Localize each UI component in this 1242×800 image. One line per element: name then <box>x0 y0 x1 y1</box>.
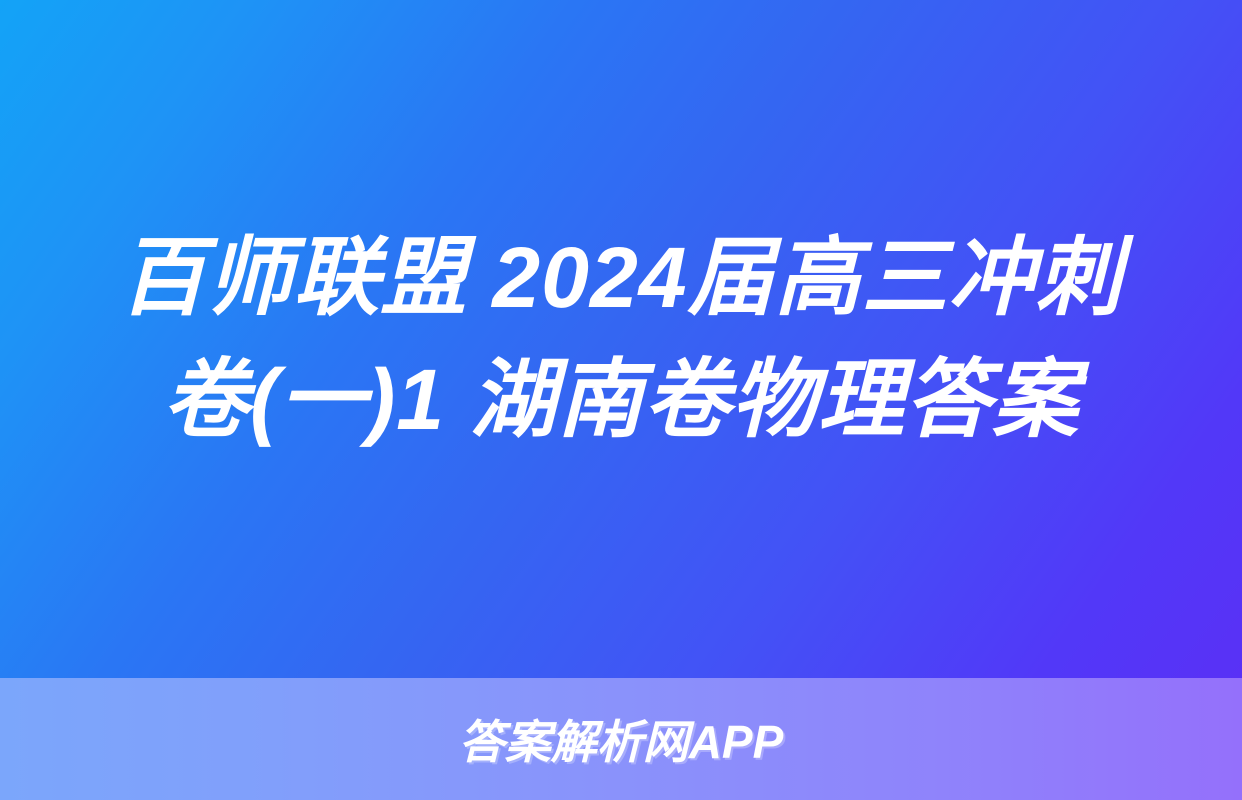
app-watermark: 答案解析网APP <box>459 719 784 765</box>
title-line-3: 案 <box>992 352 1079 448</box>
hero-section: 百师联盟 2024届高三冲刺卷(一)1 湖南卷物理答案 <box>0 0 1242 678</box>
footer-band: 答案解析网APP <box>0 678 1242 800</box>
share-card: 百师联盟 2024届高三冲刺卷(一)1 湖南卷物理答案 答案解析网APP <box>0 0 1242 800</box>
page-title: 百师联盟 2024届高三冲刺卷(一)1 湖南卷物理答案 <box>76 217 1166 461</box>
title-line-1: 百师联盟 2024届高三冲 <box>119 230 1035 326</box>
